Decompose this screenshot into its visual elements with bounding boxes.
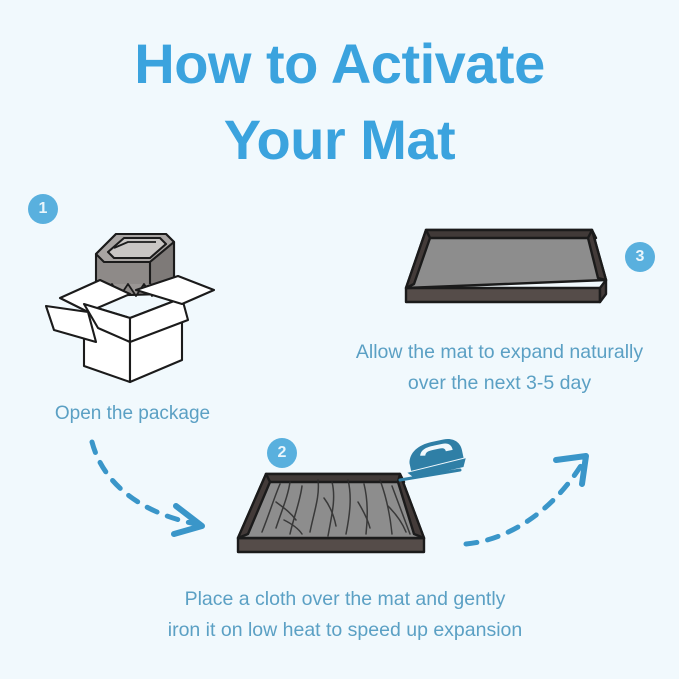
step-2-caption: Place a cloth over the mat and gently ir… (110, 584, 580, 646)
page-title-line-1: How to Activate (0, 26, 679, 102)
arrow-step2-to-step3-icon (460, 448, 600, 563)
arrow-step1-to-step2-icon (84, 436, 224, 551)
page-title-line-2: Your Mat (0, 102, 679, 178)
step-2-caption-line-1: Place a cloth over the mat and gently (110, 584, 580, 615)
step-1-caption: Open the package (0, 398, 265, 429)
step-3-number-badge: 3 (625, 242, 655, 272)
open-cardboard-box-icon (38, 218, 228, 393)
step-3-caption-line-1: Allow the mat to expand naturally (320, 337, 679, 368)
step-3-caption: Allow the mat to expand naturally over t… (320, 337, 679, 399)
step-1-caption-line-1: Open the package (0, 398, 265, 429)
step-3-caption-line-2: over the next 3-5 day (320, 368, 679, 399)
flat-mat-icon (400, 214, 612, 329)
infographic-canvas: How to Activate Your Mat 1 (0, 0, 679, 679)
step-2-caption-line-2: iron it on low heat to speed up expansio… (110, 615, 580, 646)
page-title: How to Activate Your Mat (0, 26, 679, 177)
